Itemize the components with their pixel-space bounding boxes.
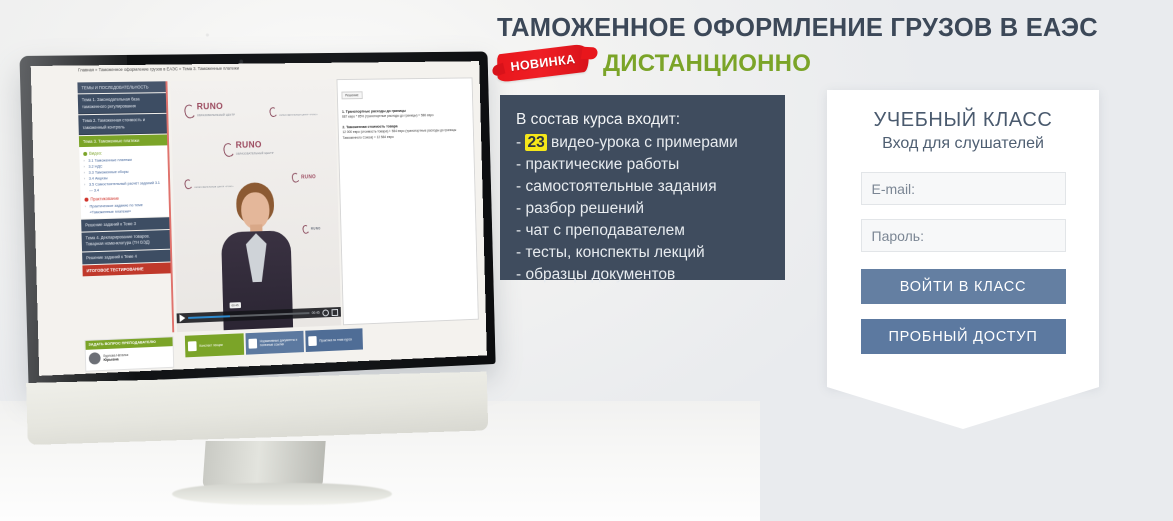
login-panel: УЧЕБНЫЙ КЛАСС Вход для слушателей E-mail… xyxy=(827,90,1099,387)
login-subtitle: Вход для слушателей xyxy=(827,135,1099,153)
checklist-icon xyxy=(308,336,317,346)
video-section-text: Видео: xyxy=(89,151,102,156)
runo-wordmark: RUNOОБРАЗОВАТЕЛЬНЫЙ ЦЕНТР xyxy=(236,140,274,158)
feature-text: разбор решений xyxy=(525,200,644,217)
ask-teacher-card[interactable]: ЗАДАТЬ ВОПРОС ПРЕПОДАВАТЕЛЮ Бурлова Ната… xyxy=(84,336,174,372)
login-button[interactable]: ВОЙТИ В КЛАСС xyxy=(861,269,1066,304)
feature-text: практические работы xyxy=(525,156,679,173)
sidebar-item-topic-2[interactable]: Тема 2. Таможенная стоимость и таможенны… xyxy=(78,114,167,135)
sidebar-item-topic-4[interactable]: Тема 4. Декларирование товаров. Товарная… xyxy=(82,230,171,251)
practice-section-label: Практикование xyxy=(84,195,164,202)
course-contents-heading: В состав курса входит: xyxy=(516,109,785,130)
runo-wordmark: RUNO xyxy=(311,225,321,234)
runo-mark-icon xyxy=(291,172,300,183)
tile-practice[interactable]: Практика по теме курса xyxy=(305,328,363,352)
sidebar-item-final-test[interactable]: ИТОГОВОЕ ТЕСТИРОВАНИЕ xyxy=(82,262,170,276)
runo-wordmark: RUNOОБРАЗОВАТЕЛЬНЫЙ ЦЕНТР xyxy=(197,102,236,120)
course-feature-item: - образцы документов xyxy=(516,264,785,286)
slide-block-2-text: 12 000 евро (стоимость товара) + 584 евр… xyxy=(342,128,469,141)
tile-label: Практика по теме курса xyxy=(319,337,352,343)
course-feature-item: - практические работы xyxy=(516,154,785,176)
runo-logo: RUNO xyxy=(292,172,316,182)
password-field[interactable]: Пароль: xyxy=(861,219,1066,252)
course-feature-item: - 23 видео-урока с примерами xyxy=(516,132,785,154)
course-feature-item: - самостоятельные задания xyxy=(516,176,785,198)
runo-logo: RUNOОБРАЗОВАТЕЛЬНЫЙ ЦЕНТР xyxy=(223,140,274,159)
document-icon xyxy=(248,339,257,349)
email-field[interactable]: E-mail: xyxy=(861,172,1066,205)
feature-text: чат с преподавателем xyxy=(525,222,684,239)
teacher-name: Бурлова Наталья Юрьевна xyxy=(103,353,128,363)
subtitle: ДИСТАНЦИОННО xyxy=(603,50,811,78)
tile-documents[interactable]: Нормативные документы и полезные ссылки xyxy=(245,331,304,355)
tile-label: Нормативные документы и полезные ссылки xyxy=(260,337,301,347)
lesson-slide: Решение: 1. Транспортные расходы до гран… xyxy=(336,77,478,325)
monitor-stand xyxy=(202,441,325,489)
runo-mark-icon xyxy=(269,106,278,117)
slide-tag: Решение: xyxy=(341,91,362,99)
lms-sidebar[interactable]: ТЕМЫ И ПОСЛЕДОВАТЕЛЬНОСТЬ Тема 1. Законо… xyxy=(77,81,170,276)
tile-lecture-notes[interactable]: Конспект лекции xyxy=(185,333,244,357)
runo-logo: RUNO xyxy=(302,225,320,234)
email-placeholder: E-mail: xyxy=(872,181,916,197)
monitor-base xyxy=(172,483,392,505)
course-feature-item: - разбор решений xyxy=(516,198,785,220)
runo-wordmark: ОБРАЗОВАТЕЛЬНЫЙ ЦЕНТР «РУНО» xyxy=(279,103,318,121)
breadcrumb: Главная » Таможенное оформление грузов в… xyxy=(78,66,239,73)
slide-block-1-text: 687 евро * 85% (транспортные расходы до … xyxy=(342,113,469,120)
page-title: ТАМОЖЕННОЕ ОФОРМЛЕНИЕ ГРУЗОВ В ЕАЭС xyxy=(497,14,1097,43)
course-feature-item: - тесты, конспекты лекций xyxy=(516,242,785,264)
course-feature-item: - чат с преподавателем xyxy=(516,220,785,242)
sidebar-item-topic-1[interactable]: Тема 1. Законодательная база таможенного… xyxy=(78,93,167,114)
password-placeholder: Пароль: xyxy=(872,228,924,244)
tile-label: Конспект лекции xyxy=(199,343,223,348)
practice-bullet-icon xyxy=(84,197,88,201)
lms-screen[interactable]: Главная » Таможенное оформление грузов в… xyxy=(31,61,487,376)
fullscreen-icon[interactable] xyxy=(332,309,339,316)
trial-access-button[interactable]: ПРОБНЫЙ ДОСТУП xyxy=(861,319,1066,354)
runo-logo: RUNOОБРАЗОВАТЕЛЬНЫЙ ЦЕНТР xyxy=(184,102,235,120)
gear-icon[interactable] xyxy=(322,309,329,316)
novelty-badge: НОВИНКА xyxy=(497,47,589,81)
runo-mark-icon xyxy=(184,179,194,190)
sidebar-lesson-list: Видео: 3.1 Таможенные платежи 3.2 НДС 3.… xyxy=(79,145,169,218)
feature-text: самостоятельные задания xyxy=(525,178,716,195)
video-time-tooltip: 00:45 xyxy=(230,302,241,308)
avatar xyxy=(89,353,101,365)
practice-item[interactable]: Практическое задание по теме «Таможенные… xyxy=(85,202,166,216)
runo-mark-icon xyxy=(183,104,196,120)
video-timestamp: 00:45 xyxy=(312,311,320,315)
feature-text: тесты, конспекты лекций xyxy=(525,244,704,261)
subtitle-row: НОВИНКА ДИСТАНЦИОННО xyxy=(497,47,811,81)
login-title: УЧЕБНЫЙ КЛАСС xyxy=(827,90,1099,132)
runo-logo: ОБРАЗОВАТЕЛЬНЫЙ ЦЕНТР «РУНО» xyxy=(269,103,318,121)
runo-wordmark: RUNO xyxy=(301,173,316,182)
teacher-patronymic: Юрьевна xyxy=(103,357,128,363)
runo-mark-icon xyxy=(302,224,310,234)
imac-mockup: Главная » Таможенное оформление грузов в… xyxy=(24,56,536,476)
runo-mark-icon xyxy=(222,142,235,158)
badge-label: НОВИНКА xyxy=(496,43,591,82)
video-player[interactable]: RUNOОБРАЗОВАТЕЛЬНЫЙ ЦЕНТР ОБРАЗОВАТЕЛЬНЫ… xyxy=(170,79,341,332)
video-count-highlight: 23 xyxy=(525,134,546,151)
practice-section-text: Практикование xyxy=(90,196,119,202)
course-contents-panel: В состав курса входит: - 23 видео-урока … xyxy=(500,95,785,280)
presenter-figure xyxy=(217,182,296,331)
feature-text: видео-урока с примерами xyxy=(547,134,738,151)
progress-bar[interactable] xyxy=(188,312,309,319)
lesson-item[interactable]: 3.5 Самостоятельный расчёт заданий 3.1 —… xyxy=(84,180,165,194)
feature-text: образцы документов xyxy=(525,266,675,283)
book-icon xyxy=(188,341,197,351)
sidebar-header: ТЕМЫ И ПОСЛЕДОВАТЕЛЬНОСТЬ xyxy=(77,81,165,93)
video-section-label: Видео: xyxy=(83,149,163,156)
play-icon[interactable] xyxy=(179,314,185,322)
video-bullet-icon xyxy=(83,151,87,155)
monitor-chin xyxy=(26,372,488,445)
